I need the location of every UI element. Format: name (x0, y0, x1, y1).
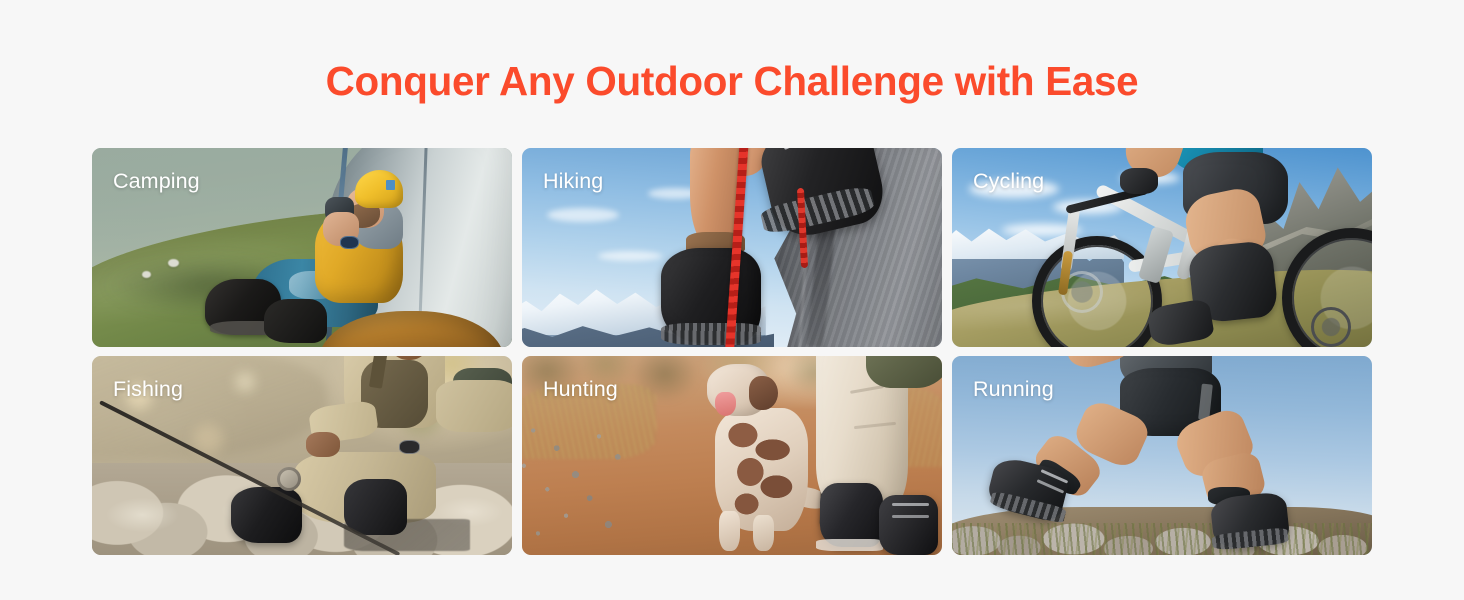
promo-banner: Conquer Any Outdoor Challenge with Ease (0, 0, 1464, 600)
dog-front-leg (719, 511, 740, 551)
road-pebbles (522, 404, 740, 551)
cloud-icon (547, 208, 619, 222)
cycling-illustration (952, 148, 1372, 347)
page-title: Conquer Any Outdoor Challenge with Ease (11, 58, 1453, 105)
bokeh-light (126, 384, 152, 410)
bokeh-light (235, 372, 255, 392)
crankset-icon (1311, 307, 1351, 347)
fishing-illustration (92, 356, 512, 555)
dog-ear (749, 376, 778, 410)
cycling-glove (1120, 168, 1158, 194)
boot-sole (816, 539, 883, 551)
activity-tile-cycling[interactable]: Cycling (952, 148, 1372, 347)
camper-beanie (355, 170, 403, 208)
companion-arm (436, 380, 512, 432)
wristwatch-icon (340, 236, 359, 250)
cloud-icon (969, 180, 1059, 198)
activity-tile-fishing[interactable]: Fishing (92, 356, 512, 555)
boot-sole-lower (661, 323, 762, 345)
hiking-boot-second (264, 299, 327, 343)
activity-tile-camping[interactable]: Camping (92, 148, 512, 347)
hunting-illustration (522, 356, 942, 555)
wristwatch-icon (399, 440, 420, 454)
boot-lace-second (892, 515, 930, 518)
activity-tile-hunting[interactable]: Hunting (522, 356, 942, 555)
dog-tongue (715, 392, 736, 416)
ridge-grass (952, 523, 1372, 555)
fishing-boot (231, 487, 302, 543)
activity-grid: Camping (92, 148, 1373, 555)
fishing-boot-second (344, 479, 407, 535)
camping-illustration (92, 148, 512, 347)
angler-hand (306, 432, 340, 458)
dog-front-leg-second (753, 515, 774, 551)
activity-tile-running[interactable]: Running (952, 356, 1372, 555)
hiking-illustration (522, 148, 942, 347)
beanie-tag (386, 180, 395, 190)
activity-tile-hiking[interactable]: Hiking (522, 148, 942, 347)
hunting-boot (820, 483, 883, 547)
hunter-jacket (866, 356, 942, 388)
boot-lace (892, 503, 930, 506)
running-illustration (952, 356, 1372, 555)
